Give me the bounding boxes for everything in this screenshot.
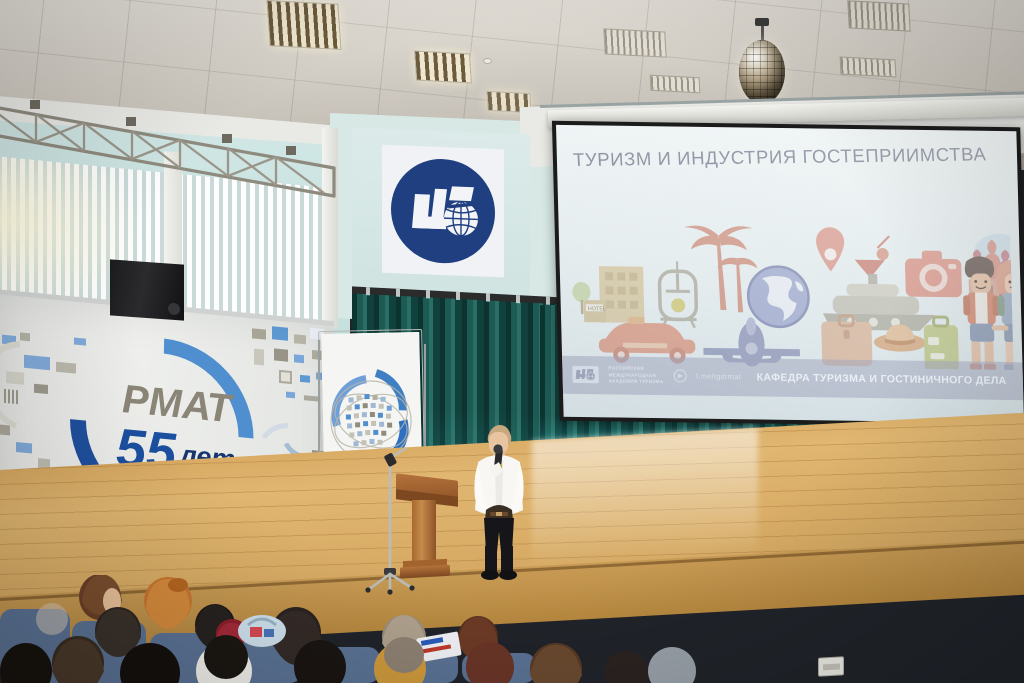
ceiling-vent-icon	[840, 56, 897, 77]
ceiling-light-icon	[266, 0, 341, 50]
logo-white-square	[382, 145, 504, 278]
camera-icon	[905, 250, 962, 297]
disco-ball-mount	[755, 18, 769, 26]
slide-title: ТУРИЗМ И ИНДУСТРИЯ ГОСТЕПРИИМСТВА	[573, 143, 1006, 171]
av-speaker-box	[110, 259, 184, 320]
smoke-detector-icon	[483, 58, 492, 64]
department-name: КАФЕДРА ТУРИЗМА И ГОСТИНИЧНОГО ДЕЛА	[757, 371, 1007, 386]
logo-wall-panel	[352, 128, 530, 310]
ceiling-vent-icon	[603, 28, 666, 57]
location-pin-icon	[816, 227, 845, 272]
tram-icon	[659, 261, 697, 328]
rmat-institute-logo	[391, 157, 495, 265]
floor-reflection	[532, 428, 757, 570]
power-outlet-icon	[818, 656, 844, 676]
mirror-ball-icon	[739, 40, 785, 104]
telegram-url: t.me/tgdrmat	[696, 372, 741, 382]
auditorium-photo: ТУРИЗМ И ИНДУСТРИЯ ГОСТЕПРИИМСТВА HOTEL	[0, 0, 1024, 683]
academy-line-3: АКАДЕМИЯ ТУРИЗМА	[609, 378, 664, 385]
ceiling-vent-icon	[847, 0, 910, 31]
academy-name: РОССИЙСКАЯ МЕЖДУНАРОДНАЯ АКАДЕМИЯ ТУРИЗМ…	[608, 366, 663, 386]
hotel-building-icon: HOTEL	[572, 265, 645, 322]
ceiling-vent-icon	[650, 75, 701, 94]
ceiling-light-icon	[414, 50, 472, 83]
slide-footer-bar: РОССИЙСКАЯ МЕЖДУНАРОДНАЯ АКАДЕМИЯ ТУРИЗМ…	[562, 355, 1023, 399]
globe-icon	[748, 266, 810, 327]
rmat-footer-logo-icon	[572, 366, 598, 383]
projection-screen: ТУРИЗМ И ИНДУСТРИЯ ГОСТЕПРИИМСТВА HOTEL	[552, 121, 1024, 427]
microphone-stand	[360, 440, 420, 595]
audience-rows	[0, 575, 700, 683]
svg-text:HOTEL: HOTEL	[588, 306, 606, 312]
telegram-icon: ➤	[673, 369, 686, 382]
slide-illustration: HOTEL	[568, 213, 1014, 371]
ceiling-truss-rig	[0, 96, 338, 204]
presenter	[466, 418, 532, 583]
